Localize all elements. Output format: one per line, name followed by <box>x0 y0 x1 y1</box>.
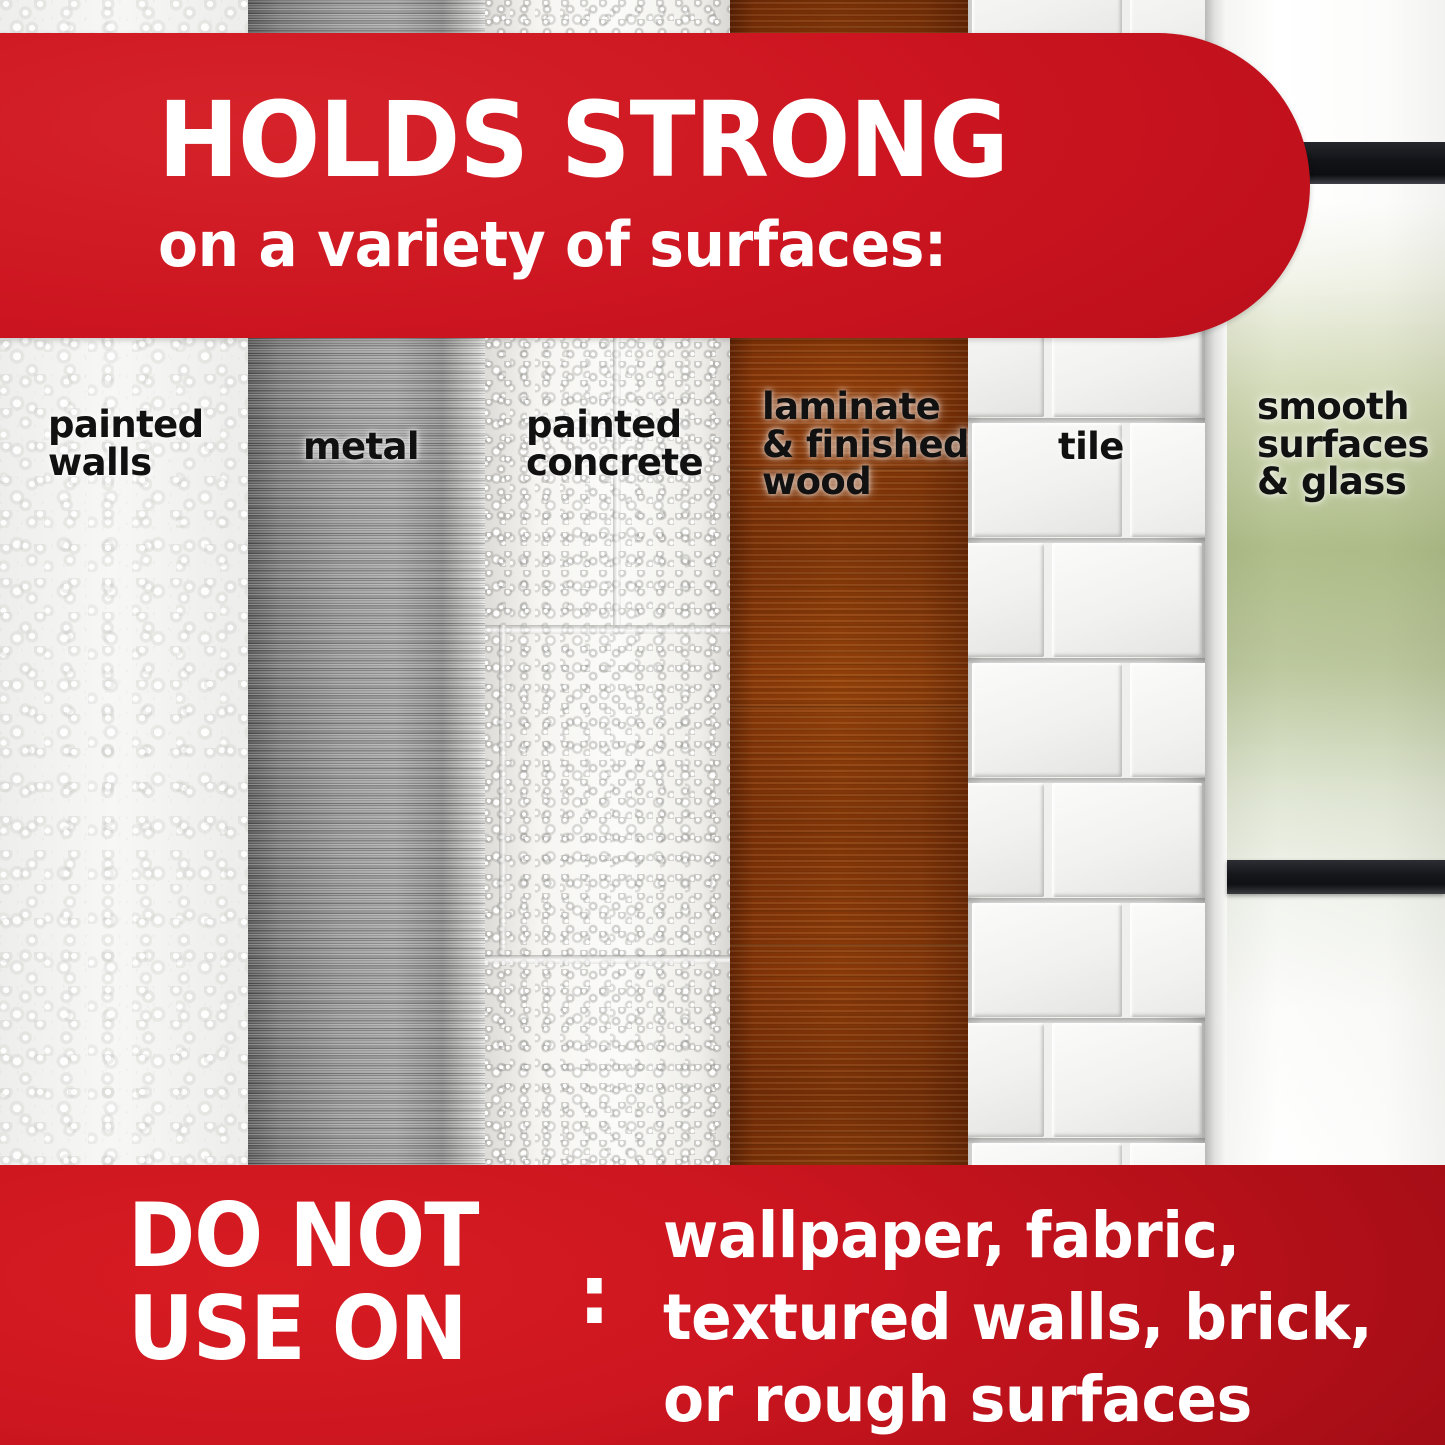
wood-plank-seam <box>730 944 968 947</box>
tile-unit <box>1052 783 1202 897</box>
surface-label-metal: metal <box>303 428 419 466</box>
header-subtitle: on a variety of surfaces: <box>158 214 947 276</box>
tile-grout-line <box>968 898 1205 903</box>
tile-grout-line <box>968 418 1205 423</box>
tile-unit <box>972 903 1122 1017</box>
surface-label-smooth-glass: smooth surfaces & glass <box>1257 388 1429 501</box>
surface-label-laminate-wood: laminate & finished wood <box>762 388 969 501</box>
tile-unit <box>968 783 1044 897</box>
tile-unit <box>1130 663 1205 777</box>
tile-unit <box>968 1023 1044 1137</box>
tile-unit <box>972 663 1122 777</box>
concrete-mortar-joint <box>485 625 730 634</box>
tile-unit <box>968 543 1044 657</box>
tile-row <box>968 900 1205 1020</box>
footer-exclusion-list: wallpaper, fabric, textured walls, brick… <box>663 1195 1372 1441</box>
tile-unit <box>1130 423 1205 537</box>
tile-row <box>968 1020 1205 1140</box>
surface-label-painted-concrete: painted concrete <box>526 406 703 481</box>
tile-grout-line <box>968 1138 1205 1143</box>
tile-unit <box>1052 1023 1202 1137</box>
surface-label-tile: tile <box>1058 428 1124 466</box>
window-rail-bottom <box>1227 860 1445 894</box>
footer-headline: DO NOT USE ON <box>128 1189 479 1376</box>
tile-row <box>968 660 1205 780</box>
tile-grout-line <box>968 778 1205 783</box>
surface-label-painted-walls: painted walls <box>48 406 204 481</box>
tile-unit <box>1130 903 1205 1017</box>
tile-row <box>968 780 1205 900</box>
wood-plank-seam <box>730 706 968 709</box>
product-infographic: painted walls metal painted concrete lam… <box>0 0 1445 1445</box>
tile-grout-line <box>968 658 1205 663</box>
header-title: HOLDS STRONG <box>158 88 1008 192</box>
concrete-mortar-joint <box>499 625 507 955</box>
footer-colon: : <box>578 1255 611 1337</box>
tile-grout-line <box>968 1018 1205 1023</box>
tile-unit <box>1052 543 1202 657</box>
concrete-mortar-joint <box>485 955 730 964</box>
tile-grout-line <box>968 538 1205 543</box>
tile-row <box>968 540 1205 660</box>
